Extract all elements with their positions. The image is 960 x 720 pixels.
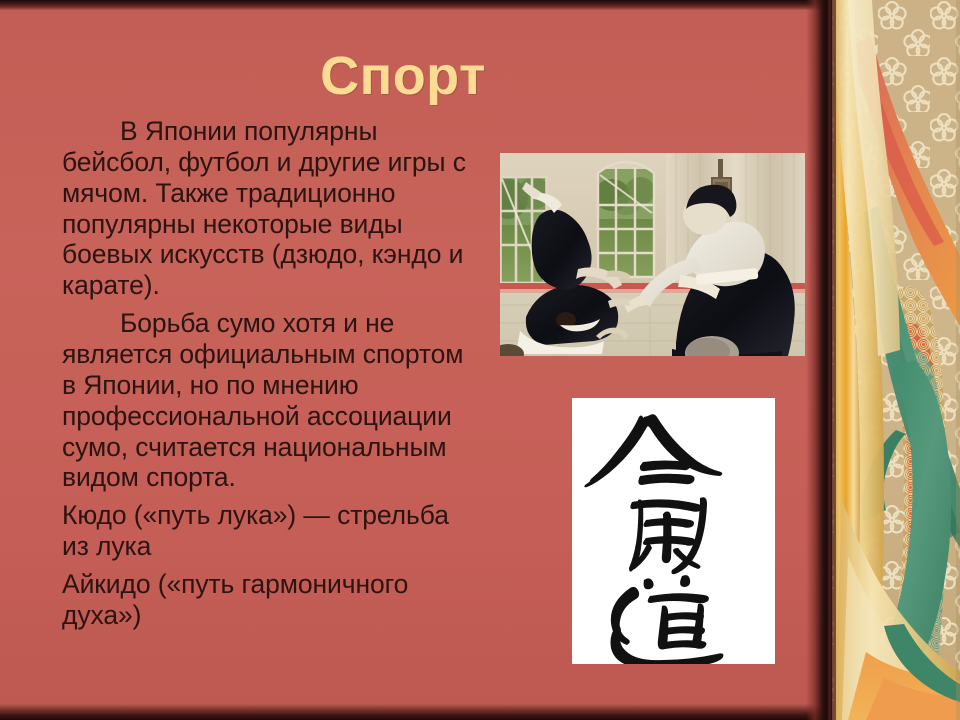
paragraph-1: В Японии популярны бейсбол, футбол и дру… (62, 116, 482, 301)
aikido-demonstration-photo (500, 153, 805, 356)
aikido-kanji-calligraphy (572, 398, 775, 664)
presentation-slide: Спорт В Японии популярны бейсбол, футбол… (0, 0, 960, 720)
slide-bottom-edge (0, 704, 826, 720)
japanese-ornamental-border (826, 0, 960, 720)
deco-left-shadow (826, 0, 833, 720)
paragraph-3: Кюдо («путь лука») — стрельба из лука (62, 500, 482, 562)
page-title: Спорт (0, 48, 806, 105)
body-text-column: В Японии популярны бейсбол, футбол и дру… (62, 116, 482, 633)
paragraph-2: Борьба сумо хотя и не является официальн… (62, 308, 482, 493)
slide-top-edge (0, 0, 826, 10)
paragraph-4: Айкидо («путь гармоничного духа») (62, 569, 482, 631)
slide-right-edge-shadow (806, 0, 828, 720)
